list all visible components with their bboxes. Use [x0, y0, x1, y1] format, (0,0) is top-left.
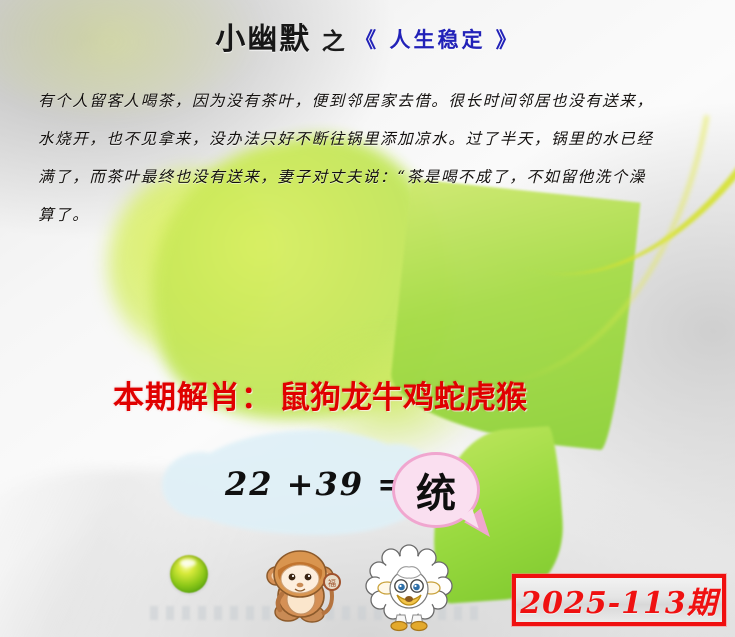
zodiac-prediction-line: 本期解肖：鼠狗龙牛鸡蛇虎猴	[113, 372, 527, 417]
issue-number: 2025-113期	[520, 578, 718, 622]
page-subtitle: 《 人生稳定 》	[355, 24, 520, 54]
poster-canvas: 小幽默 之 《 人生稳定 》 有个人留客人喝茶，因为没有茶叶，便到邻居家去借。很…	[0, 0, 735, 637]
story-line-4: 算了。	[38, 196, 706, 234]
page-title: 小幽默	[215, 14, 311, 58]
title-connector: 之	[322, 22, 345, 56]
story-text: 有个人留客人喝茶，因为没有茶叶，便到邻居家去借。很长时间邻居也没有送来， 水烧开…	[38, 82, 706, 234]
poster-header: 小幽默 之 《 人生稳定 》	[0, 14, 735, 58]
sheep-mascot-icon	[363, 541, 455, 633]
monkey-mascot-icon: 福	[258, 546, 344, 630]
story-line-3: 满了，而茶叶最终也没有送来，妻子对丈夫说：“茶是喝不成了，不如留他洗个澡	[38, 158, 706, 196]
answer-character: 统	[392, 452, 480, 528]
equation-text: 22 +39 =	[225, 465, 406, 503]
issue-badge: 2025-113期	[512, 574, 726, 626]
svg-text:福: 福	[328, 579, 336, 588]
zodiac-animals: 鼠狗龙牛鸡蛇虎猴	[279, 380, 527, 416]
story-line-2: 水烧开，也不见拿来，没办法只好不断往锅里添加凉水。过了半天，锅里的水已经	[38, 120, 706, 158]
green-ball-highlight-icon	[180, 559, 196, 567]
story-line-1: 有个人留客人喝茶，因为没有茶叶，便到邻居家去借。很长时间邻居也没有送来，	[38, 82, 706, 120]
zodiac-label: 本期解肖：	[113, 380, 273, 416]
equation-expression: 22 +39 =	[225, 465, 406, 503]
